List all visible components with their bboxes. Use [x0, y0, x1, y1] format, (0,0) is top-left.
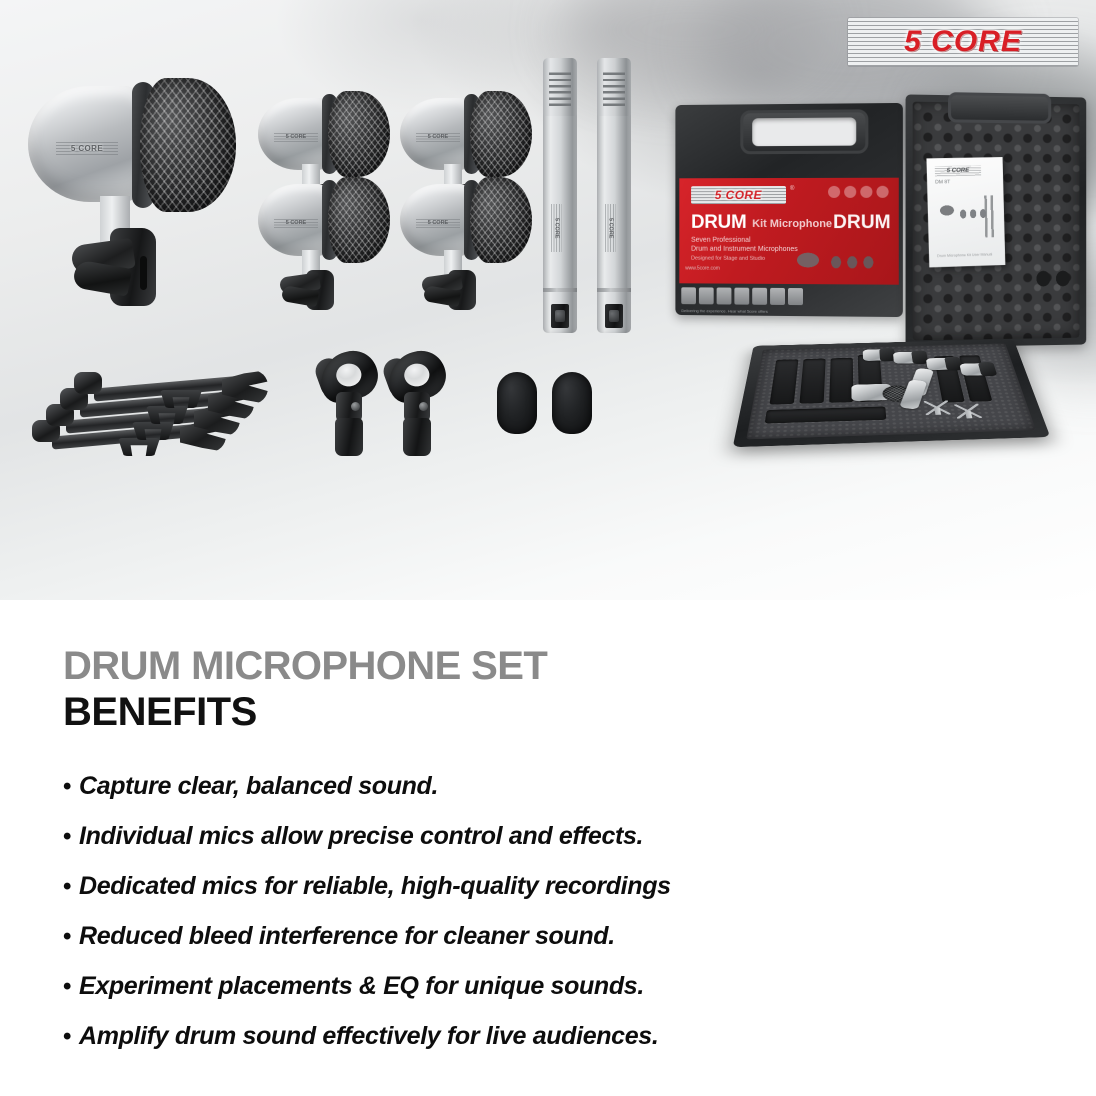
- drum-rim-mount-clamps: [30, 362, 280, 468]
- feature-icon: [681, 287, 696, 304]
- clamp-hook: [118, 438, 160, 456]
- microphone-clip-2: [386, 352, 448, 456]
- rim-mount-clamp: [72, 370, 268, 404]
- case-lid-handle: [948, 92, 1051, 124]
- xlr-connector: [605, 304, 623, 328]
- benefit-text: Capture clear, balanced sound.: [79, 772, 438, 800]
- microphone-mount-clamp: [280, 270, 338, 310]
- foam-cavity: [829, 358, 853, 403]
- foam-windscreen-1: [497, 372, 537, 434]
- case-open-lid: 5 CORE DM 8T Drum Microphone Kit User Ma…: [906, 94, 1087, 347]
- bullet-marker: •: [63, 923, 79, 951]
- microphone-logo: 5 CORE: [551, 204, 562, 252]
- label-dot: [876, 186, 888, 198]
- microphone-logo: 5 CORE: [605, 204, 616, 252]
- page-title-benefits: BENEFITS: [63, 690, 1033, 734]
- list-item: • Reduced bleed interference for cleaner…: [63, 922, 1033, 951]
- microphone-logo: 5 CORE: [416, 132, 460, 142]
- manual-brand-logo: 5 CORE: [935, 165, 981, 176]
- manual-model-number: DM 8T: [935, 179, 950, 185]
- case-back-half: 5 CORE ® DRUM Kit Microphone DRUM Seven …: [675, 103, 902, 317]
- tom-microphone-2: 5 CORE: [258, 178, 376, 304]
- clip-thread-adapter: [335, 418, 363, 456]
- microphone-logo: 5 CORE: [274, 132, 318, 142]
- clamp-knob: [74, 372, 102, 394]
- bullet-marker: •: [63, 973, 79, 1001]
- microphone-mount-clamp: [422, 270, 480, 310]
- label-subtitle: Kit Microphone: [752, 218, 832, 230]
- label-icon-note: Delivering the experience. Hear what 5co…: [681, 308, 768, 314]
- case-handle-slot: [752, 117, 856, 146]
- foam-cavity: [799, 359, 825, 404]
- clip-thread-adapter: [403, 418, 431, 456]
- microphone-logo: 5 CORE: [274, 218, 318, 228]
- microphone-capsule-head: [543, 58, 577, 116]
- label-icon-strip: [681, 283, 830, 308]
- pencil-condenser-microphone-2: 5 CORE: [597, 58, 631, 333]
- bullet-marker: •: [63, 873, 79, 901]
- nested-mic-clip: [924, 400, 951, 415]
- tom-microphone-4: 5 CORE: [400, 178, 518, 304]
- foam-windscreen-2: [552, 372, 592, 434]
- pencil-condenser-microphone-1: 5 CORE: [543, 58, 577, 333]
- feature-icon: [770, 287, 785, 304]
- benefits-text-panel: DRUM MICROPHONE SET BENEFITS • Capture c…: [0, 600, 1096, 1096]
- bullet-marker: •: [63, 773, 79, 801]
- label-dot: [828, 186, 840, 198]
- label-dot: [860, 186, 872, 198]
- list-item: • Capture clear, balanced sound.: [63, 772, 1033, 801]
- clamp-jaw: [222, 370, 268, 404]
- microphone-grille: [328, 91, 390, 177]
- manual-caption: Drum Microphone Kit User Manual: [937, 252, 995, 259]
- product-infographic: 5 CORE 5 CORE 5 CORE: [0, 0, 1096, 1096]
- product-photo-panel: 5 CORE 5 CORE 5 CORE: [0, 0, 1096, 600]
- feature-icon: [752, 287, 767, 304]
- microphone-grille: [328, 177, 390, 263]
- spare-foam-windscreens: [1034, 268, 1073, 290]
- label-title: DRUM: [691, 212, 746, 234]
- benefit-text: Dedicated mics for reliable, high-qualit…: [79, 872, 671, 900]
- microphone-clip-1: [318, 352, 380, 456]
- brand-logo-text: 5 CORE: [904, 25, 1022, 59]
- manual-product-artwork: [935, 195, 998, 239]
- label-dot: [844, 186, 856, 198]
- benefit-text: Individual mics allow precise control an…: [79, 822, 643, 850]
- nested-mic-clip: [954, 404, 982, 419]
- label-title-right: DRUM: [833, 212, 891, 234]
- page-title-product: DRUM MICROPHONE SET: [63, 644, 1033, 688]
- microphone-logo: 5 CORE: [56, 142, 118, 155]
- microphone-grille-slots: [603, 72, 625, 106]
- label-feature-dots: [828, 186, 889, 198]
- benefits-list: • Capture clear, balanced sound. • Indiv…: [63, 772, 1033, 1051]
- list-item: • Amplify drum sound effectively for liv…: [63, 1022, 1033, 1051]
- feature-icon: [734, 287, 749, 304]
- list-item: • Experiment placements & EQ for unique …: [63, 972, 1033, 1001]
- feature-icon: [717, 287, 732, 304]
- benefit-text: Experiment placements & EQ for unique so…: [79, 972, 644, 1000]
- microphone-mount-clamp: [72, 228, 164, 310]
- microphone-grille: [470, 177, 532, 263]
- label-microphone-artwork: [792, 240, 889, 281]
- microphone-grille-slots: [549, 72, 571, 106]
- user-manual-booklet: 5 CORE DM 8T Drum Microphone Kit User Ma…: [926, 157, 1005, 267]
- bullet-marker: •: [63, 1023, 79, 1051]
- microphone-base-ring: [597, 288, 631, 292]
- benefit-text: Reduced bleed interference for cleaner s…: [79, 922, 615, 950]
- microphone-capsule-head: [597, 58, 631, 116]
- feature-icon: [788, 288, 803, 305]
- label-brand-logo: 5 CORE: [691, 186, 786, 204]
- microphone-base-ring: [543, 288, 577, 292]
- xlr-connector: [551, 304, 569, 328]
- list-item: • Individual mics allow precise control …: [63, 822, 1033, 851]
- microphone-logo: 5 CORE: [416, 218, 460, 228]
- brand-logo-badge: 5 CORE: [848, 18, 1078, 66]
- feature-icon: [699, 287, 714, 304]
- label-url: www.5core.com: [685, 265, 720, 271]
- bullet-marker: •: [63, 823, 79, 851]
- kick-drum-microphone: 5 CORE: [28, 78, 228, 308]
- list-item: • Dedicated mics for reliable, high-qual…: [63, 872, 1033, 901]
- microphone-grille: [470, 91, 532, 177]
- case-foam-tray: [733, 339, 1051, 447]
- benefit-text: Amplify drum sound effectively for live …: [79, 1022, 658, 1050]
- label-registered-mark: ®: [790, 186, 794, 192]
- carrying-case: 5 CORE ® DRUM Kit Microphone DRUM Seven …: [668, 96, 1088, 456]
- microphone-grille: [140, 78, 236, 212]
